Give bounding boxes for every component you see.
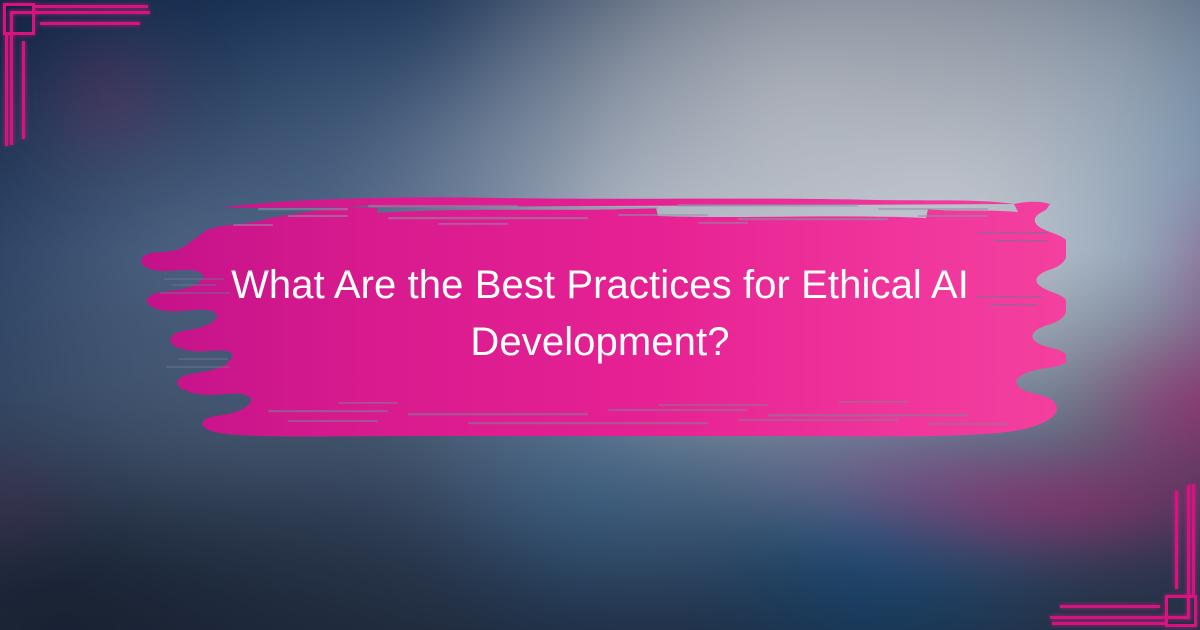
corner-line-vertical-outer bbox=[5, 34, 8, 146]
featured-image-card: What Are the Best Practices for Ethical … bbox=[0, 0, 1200, 630]
corner-frame-top-left bbox=[0, 0, 160, 160]
corner-line-vertical-outer bbox=[1192, 484, 1195, 596]
corner-line-horizontal-outer bbox=[1052, 622, 1166, 625]
corner-elbow-horizontal bbox=[10, 11, 150, 14]
corner-line-horizontal-outer bbox=[34, 5, 148, 8]
corner-square-icon bbox=[1165, 595, 1197, 627]
corner-frame-bottom-right bbox=[1040, 470, 1200, 630]
corner-square-icon bbox=[3, 3, 35, 35]
page-title: What Are the Best Practices for Ethical … bbox=[170, 188, 1030, 440]
corner-elbow-vertical bbox=[1187, 485, 1190, 619]
corner-elbow-vertical bbox=[10, 11, 13, 145]
corner-line-vertical-inner bbox=[22, 41, 25, 139]
corner-line-horizontal-inner bbox=[40, 22, 140, 25]
corner-line-horizontal-inner bbox=[1060, 605, 1160, 608]
corner-line-vertical-inner bbox=[1175, 491, 1178, 589]
corner-elbow-horizontal bbox=[1050, 616, 1190, 619]
